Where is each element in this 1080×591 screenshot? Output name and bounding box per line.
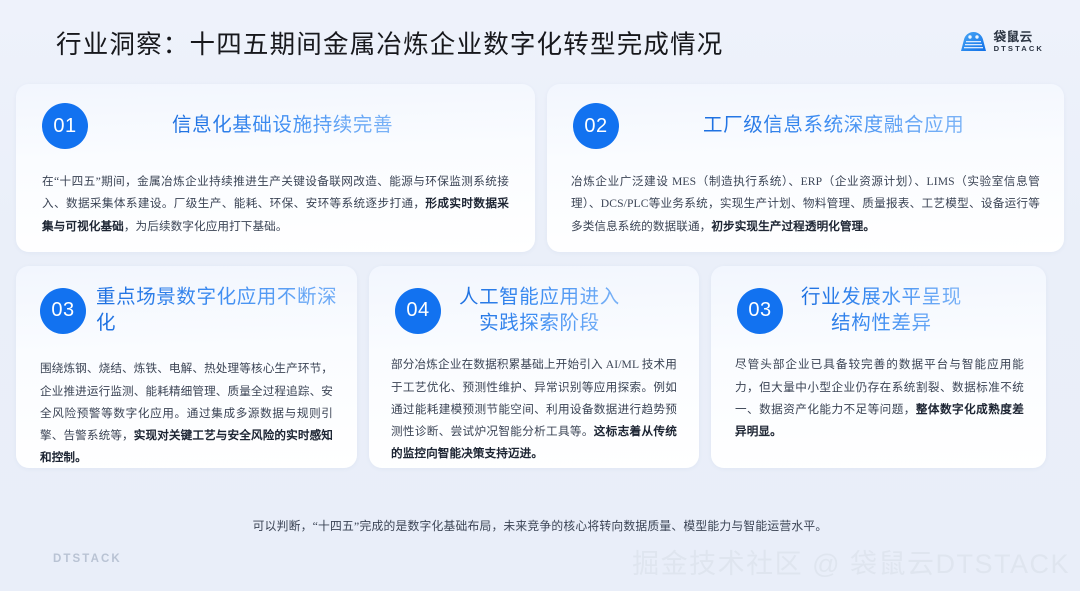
card-body: 冶炼企业广泛建设 MES（制造执行系统）、ERP（企业资源计划）、LIMS（实验… <box>571 171 1040 238</box>
card-title: 人工智能应用进入 实践探索阶段 <box>459 285 620 336</box>
card-number-badge: 03 <box>737 288 783 334</box>
card-body: 部分冶炼企业在数据积累基础上开始引入 AI/ML 技术用于工艺优化、预测性维护、… <box>391 354 677 465</box>
card-title: 重点场景数字化应用不断深化 <box>96 285 357 336</box>
card-body-tail: ，为后续数字化应用打下基础。 <box>124 220 288 233</box>
card-body: 在“十四五”期间，金属冶炼企业持续推进生产关键设备联网改造、能源与环保监测系统接… <box>42 171 509 238</box>
card-header: 04 人工智能应用进入 实践探索阶段 <box>369 266 699 336</box>
conclusion-text: 可以判断，“十四五”完成的是数字化基础布局，未来竞争的核心将转向数据质量、模型能… <box>0 517 1080 534</box>
footer-logo: DTSTACK <box>53 553 122 565</box>
card-title: 信息化基础设施持续完善 <box>172 113 393 139</box>
card-number-badge: 03 <box>40 288 86 334</box>
card-header: 02 工厂级信息系统深度融合应用 <box>547 84 1064 149</box>
card-number-badge: 02 <box>573 103 619 149</box>
brand-logo: 袋鼠云 DTSTACK <box>960 31 1044 53</box>
insight-card-05: 03 行业发展水平呈现 结构性差异 尽管头部企业已具备较完善的数据平台与智能应用… <box>711 266 1046 468</box>
insight-card-02: 02 工厂级信息系统深度融合应用 冶炼企业广泛建设 MES（制造执行系统）、ER… <box>547 84 1064 252</box>
card-title: 工厂级信息系统深度融合应用 <box>703 113 964 139</box>
insight-card-03: 03 重点场景数字化应用不断深化 围绕炼钢、烧结、炼铁、电解、热处理等核心生产环… <box>16 266 357 468</box>
page-footer: 可以判断，“十四五”完成的是数字化基础布局，未来竞争的核心将转向数据质量、模型能… <box>0 501 1080 591</box>
card-title: 行业发展水平呈现 结构性差异 <box>801 285 962 336</box>
brand-wordmark: 袋鼠云 DTSTACK <box>994 31 1044 53</box>
brand-name-cn: 袋鼠云 <box>994 31 1044 44</box>
card-body: 围绕炼钢、烧结、炼铁、电解、热处理等核心生产环节，企业推进运行监测、能耗精细管理… <box>40 358 333 468</box>
insight-card-01: 01 信息化基础设施持续完善 在“十四五”期间，金属冶炼企业持续推进生产关键设备… <box>16 84 535 252</box>
page-title: 行业洞察：十四五期间金属冶炼企业数字化转型完成情况 <box>56 24 724 61</box>
card-header: 03 重点场景数字化应用不断深化 <box>16 266 357 336</box>
watermark-text: 掘金技术社区 @ 袋鼠云DTSTACK <box>632 542 1070 581</box>
card-header: 01 信息化基础设施持续完善 <box>16 84 535 149</box>
card-body: 尽管头部企业已具备较完善的数据平台与智能应用能力，但大量中小型企业仍存在系统割裂… <box>735 354 1024 443</box>
card-grid: 01 信息化基础设施持续完善 在“十四五”期间，金属冶炼企业持续推进生产关键设备… <box>0 84 1080 468</box>
card-number-badge: 01 <box>42 103 88 149</box>
dtstack-cloud-logo-icon <box>960 31 987 53</box>
card-body-highlight: 初步实现生产过程透明化管理。 <box>711 220 875 233</box>
card-number-badge: 04 <box>395 288 441 334</box>
page-header: 行业洞察：十四五期间金属冶炼企业数字化转型完成情况 <box>0 0 1080 84</box>
brand-name-en: DTSTACK <box>994 45 1044 53</box>
card-row-1: 01 信息化基础设施持续完善 在“十四五”期间，金属冶炼企业持续推进生产关键设备… <box>16 84 1064 252</box>
insight-card-04: 04 人工智能应用进入 实践探索阶段 部分冶炼企业在数据积累基础上开始引入 AI… <box>369 266 699 468</box>
card-header: 03 行业发展水平呈现 结构性差异 <box>711 266 1046 336</box>
infographic-page: 行业洞察：十四五期间金属冶炼企业数字化转型完成情况 <box>0 0 1080 591</box>
card-row-2: 03 重点场景数字化应用不断深化 围绕炼钢、烧结、炼铁、电解、热处理等核心生产环… <box>16 266 1064 468</box>
